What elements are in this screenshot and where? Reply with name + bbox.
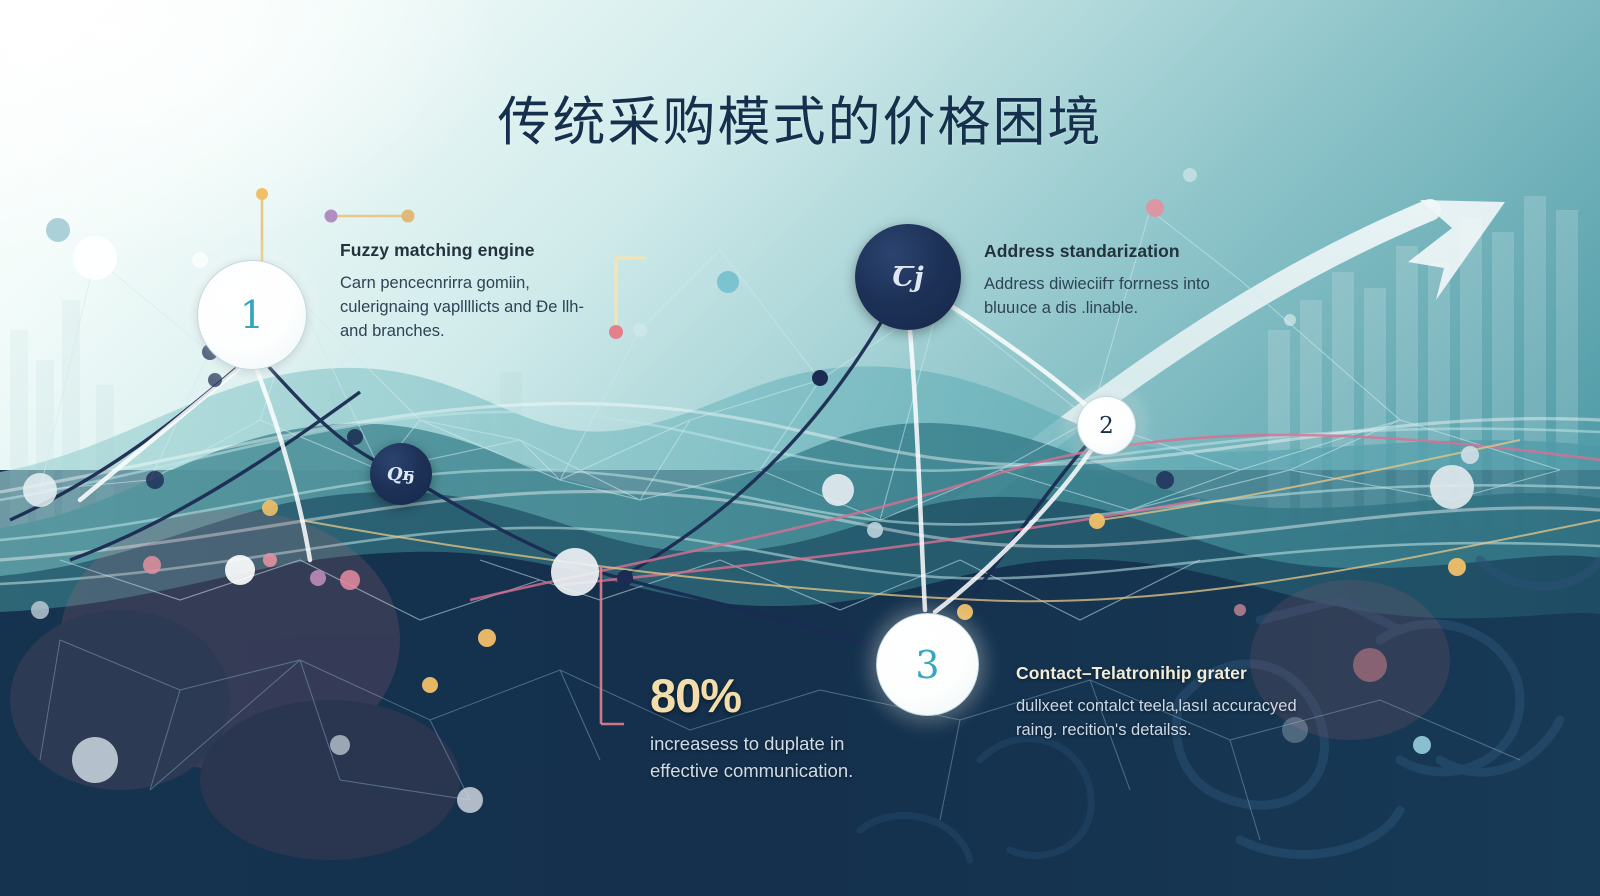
callout-3-body: dullxeet contalct teela‚lasıl accuracyed…	[1016, 694, 1316, 742]
page-title: 传统采购模式的价格困境	[0, 80, 1600, 156]
callout-1-body: Carn pencecnrirra gomiin, culerignaing v…	[340, 271, 610, 343]
callout-contact-relationship: Contact–Telatronihip grater dullxeet con…	[1016, 663, 1316, 742]
callout-2-body: Address diwieciifт forrness into bluuıce…	[984, 272, 1244, 320]
connector-dot-purple	[325, 210, 338, 223]
statistic-value: 80%	[650, 672, 880, 719]
statistic-block: 80% increasess to duplate in effective c…	[650, 672, 880, 785]
callout-2-title: Address standarization	[984, 241, 1244, 261]
callout-marker-3[interactable]: 3	[876, 613, 979, 716]
connector-dot-pink	[609, 325, 623, 339]
callout-marker-1[interactable]: 1	[197, 260, 307, 370]
infographic-canvas: 传统采购模式的价格困境 1 2 3 Ꞇj Qҕ Fuzzy matching e…	[0, 0, 1600, 896]
callout-marker-2[interactable]: 2	[1077, 396, 1136, 455]
callout-address-standardization: Address standarization Address diwieciif…	[984, 241, 1244, 320]
connector-dot-gold	[256, 188, 268, 200]
badge-icon-primary: Ꞇj	[855, 224, 961, 330]
statistic-label: increasess to duplate in effective commu…	[650, 731, 880, 785]
badge-icon-secondary: Qҕ	[370, 443, 432, 505]
callout-3-title: Contact–Telatronihip grater	[1016, 663, 1316, 683]
connector-dot-gold2	[402, 210, 415, 223]
callout-1-title: Fuzzy matching engine	[340, 240, 610, 260]
callout-fuzzy-matching-engine: Fuzzy matching engine Carn pencecnrirra …	[340, 240, 610, 343]
gold-link-lines	[300, 440, 1600, 601]
